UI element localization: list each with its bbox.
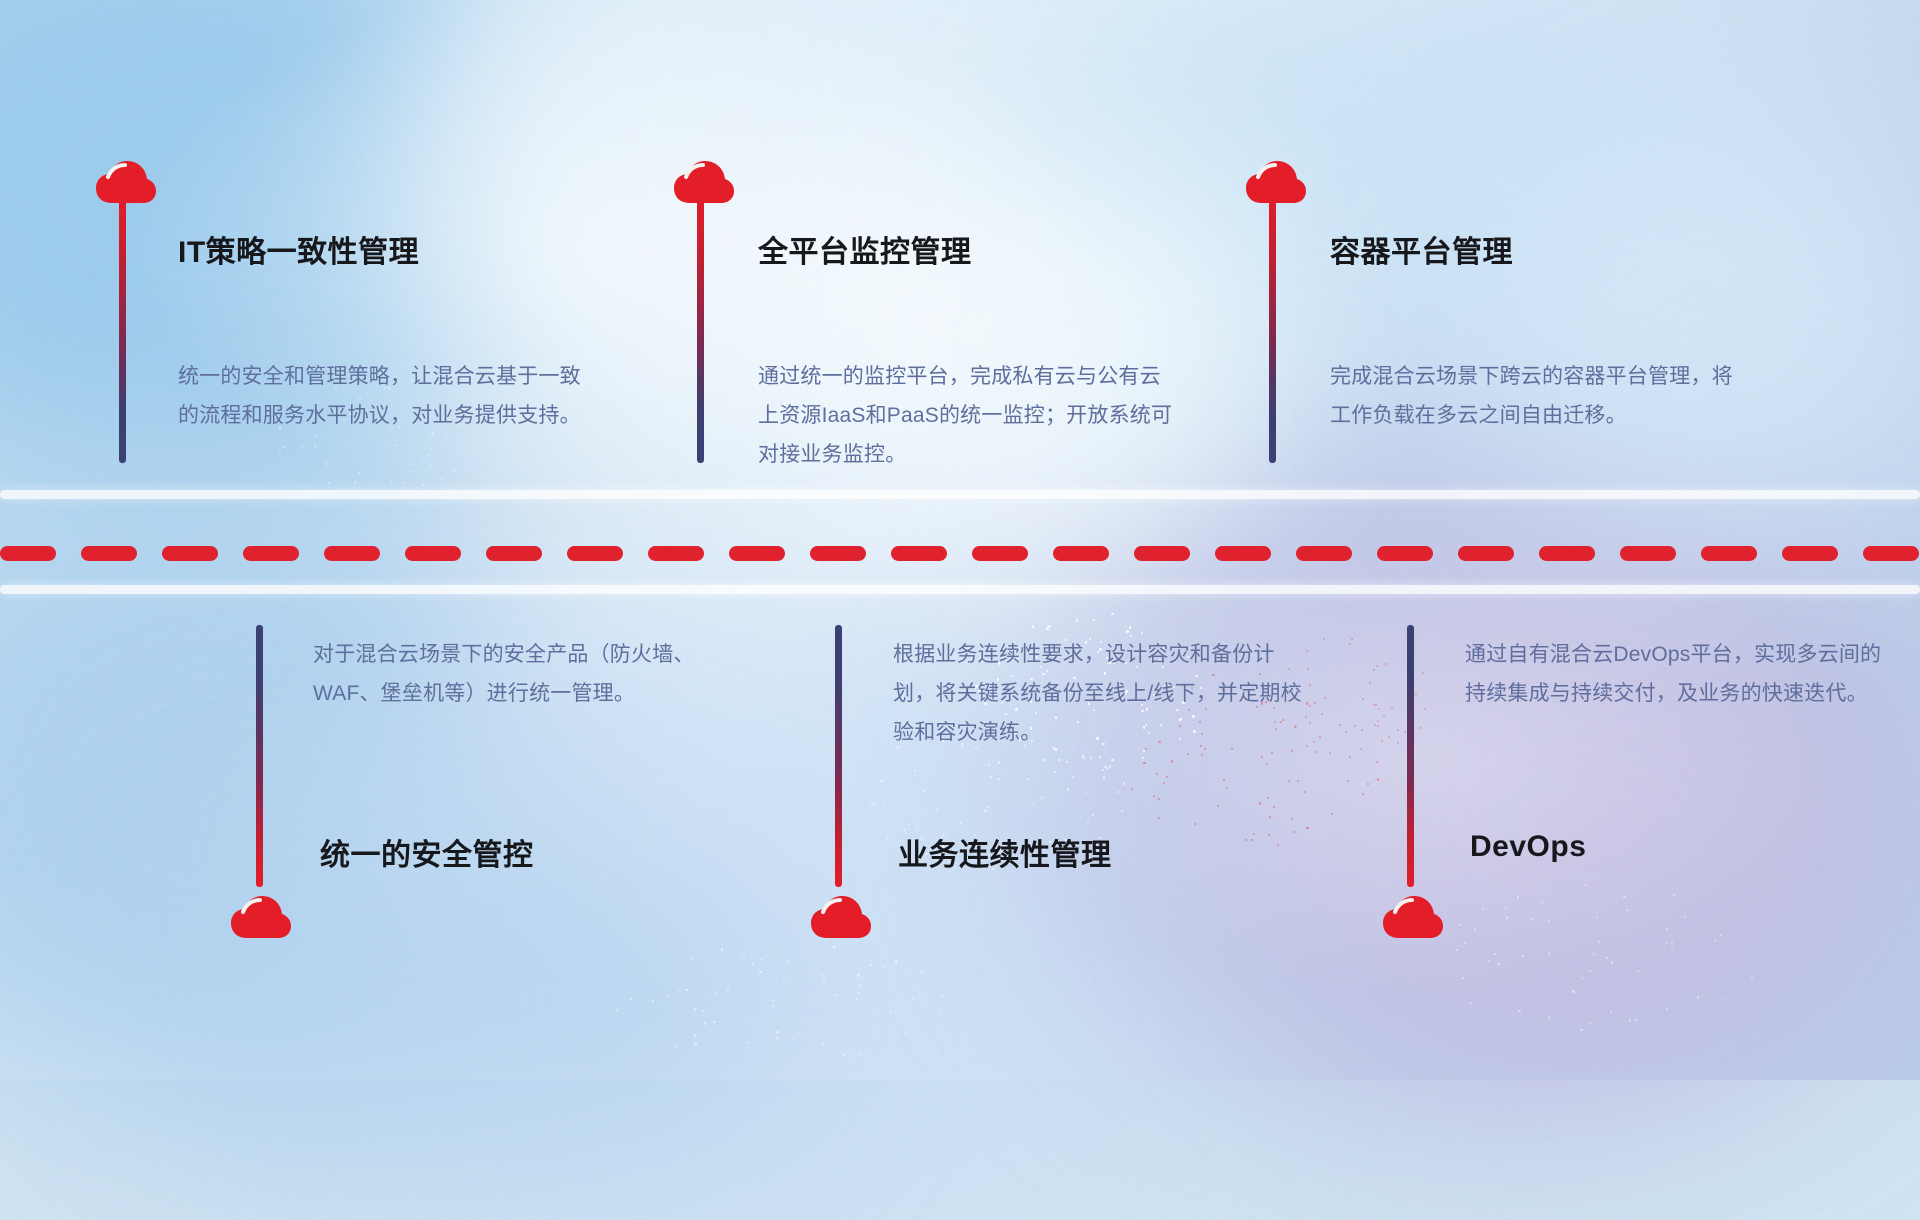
cloud-icon: [230, 895, 292, 939]
speckle-dot: [1572, 990, 1574, 992]
speckle-dot: [1376, 761, 1378, 763]
speckle-dot: [1271, 752, 1273, 754]
speckle-dot: [984, 810, 986, 812]
speckle-dot: [314, 445, 316, 447]
speckle-dot: [1388, 736, 1390, 738]
speckle-dot: [874, 803, 876, 805]
speckle-dot: [1637, 970, 1639, 972]
pin-connector: [1407, 625, 1414, 887]
speckle-dot: [1589, 970, 1591, 972]
speckle-dot: [441, 478, 443, 480]
cloud-icon: [673, 160, 735, 204]
speckle-dot: [1331, 813, 1333, 815]
speckle-dot: [1048, 625, 1050, 627]
dash-segment: [405, 546, 461, 561]
speckle-dot: [1623, 896, 1625, 898]
speckle-dot: [1041, 797, 1043, 799]
speckle-dot: [1245, 839, 1247, 841]
speckle-dot: [772, 1000, 774, 1002]
speckle-dot: [936, 809, 938, 811]
speckle-dot: [1083, 758, 1085, 760]
speckle-dot: [1288, 780, 1290, 782]
speckle-dot: [447, 436, 449, 438]
dash-segment: [486, 546, 542, 561]
speckle-dot: [1027, 778, 1029, 780]
speckle-dot: [1329, 752, 1331, 754]
speckle-dot: [1273, 806, 1275, 808]
speckle-dot: [1259, 802, 1261, 804]
dash-segment: [1863, 546, 1919, 561]
speckle-dot: [704, 1022, 706, 1024]
speckle-dot: [1378, 708, 1380, 710]
speckle-dot: [713, 1021, 715, 1023]
speckle-dot: [1462, 977, 1464, 979]
speckle-dot: [1153, 795, 1155, 797]
speckle-dot: [1634, 1019, 1636, 1021]
dash-segment: [1296, 546, 1352, 561]
speckle-dot: [1067, 788, 1069, 790]
speckle-dot: [1397, 742, 1399, 744]
cloud-icon: [95, 160, 157, 204]
speckle-dot: [1474, 928, 1476, 930]
speckle-dot: [1611, 961, 1613, 963]
dash-segment: [729, 546, 785, 561]
dash-segment: [324, 546, 380, 561]
speckle-dot: [283, 446, 285, 448]
feature-body: 统一的安全和管理策略，让混合云基于一致的流程和服务水平协议，对业务提供支持。: [178, 357, 598, 435]
speckle-dot: [1201, 754, 1203, 756]
speckle-dot: [452, 470, 454, 472]
dash-segment: [891, 546, 947, 561]
speckle-dot: [1251, 839, 1253, 841]
speckle-dot: [748, 1015, 750, 1017]
speckle-dot: [1261, 756, 1263, 758]
speckle-dot: [890, 1011, 892, 1013]
speckle-dot: [1381, 740, 1383, 742]
speckle-dot: [834, 994, 836, 996]
speckle-dot: [920, 971, 922, 973]
dash-segment: [1377, 546, 1433, 561]
speckle-dot: [833, 946, 835, 948]
pin-connector: [697, 198, 704, 463]
speckle-dot: [390, 481, 392, 483]
speckle-dot: [1129, 626, 1131, 628]
cloud-icon: [810, 895, 872, 939]
divider-bar-bottom: [0, 585, 1920, 594]
speckle-dot: [1522, 955, 1524, 957]
speckle-dot: [1684, 916, 1686, 918]
speckle-dot: [1090, 757, 1092, 759]
speckle-dot: [998, 761, 1000, 763]
speckle-dot: [1518, 1010, 1520, 1012]
speckle-dot: [430, 465, 432, 467]
speckle-dot: [776, 1037, 778, 1039]
speckle-dot: [427, 454, 429, 456]
feature-title: DevOps: [1470, 830, 1586, 864]
speckle-dot: [1596, 916, 1598, 918]
speckle-dot: [616, 1009, 618, 1011]
speckle-dot: [1143, 762, 1145, 764]
speckle-dot: [694, 1034, 696, 1036]
speckle-dot: [394, 444, 396, 446]
speckle-dot: [715, 993, 717, 995]
divider-bar-top: [0, 490, 1920, 499]
speckle-dot: [746, 1042, 748, 1044]
speckle-dot: [759, 971, 761, 973]
speckle-dot: [783, 976, 785, 978]
dash-segment: [0, 546, 56, 561]
speckle-dot: [1629, 1019, 1631, 1021]
speckle-dot: [1505, 907, 1507, 909]
speckle-dot: [1166, 776, 1168, 778]
feature-body: 完成混合云场景下跨云的容器平台管理，将工作负载在多云之间自由迁移。: [1330, 357, 1750, 435]
speckle-dot: [1404, 731, 1406, 733]
dash-segment: [1458, 546, 1514, 561]
dash-segment: [1701, 546, 1757, 561]
speckle-dot: [1046, 627, 1048, 629]
speckle-dot: [1367, 783, 1369, 785]
dash-segment: [1782, 546, 1838, 561]
speckle-dot: [886, 837, 888, 839]
speckle-dot: [1497, 963, 1499, 965]
speckle-dot: [1111, 759, 1113, 761]
speckle-dot: [1506, 916, 1508, 918]
speckle-dot: [679, 990, 681, 992]
speckle-dot: [1111, 613, 1113, 615]
pin-connector: [1269, 198, 1276, 463]
speckle-dot: [1141, 632, 1143, 634]
speckle-dot: [941, 995, 943, 997]
speckle-dot: [1349, 756, 1351, 758]
speckle-dot: [1345, 731, 1347, 733]
speckle-dot: [1054, 771, 1056, 773]
speckle-dot: [1085, 791, 1087, 793]
speckle-dot: [1277, 844, 1279, 846]
speckle-dot: [685, 989, 687, 991]
speckle-dot: [358, 472, 360, 474]
speckle-dot: [987, 806, 989, 808]
speckle-dot: [761, 958, 763, 960]
speckle-dot: [652, 1000, 654, 1002]
speckle-dot: [857, 974, 859, 976]
speckle-dot: [423, 458, 425, 460]
dash-segment: [972, 546, 1028, 561]
speckle-dot: [1117, 791, 1119, 793]
dash-segment: [162, 546, 218, 561]
speckle-dot: [1580, 1029, 1582, 1031]
feature-title: 统一的安全管控: [320, 830, 534, 874]
dashed-red-line: [0, 546, 1920, 561]
speckle-dot: [880, 780, 882, 782]
feature-body: 通过自有混合云DevOps平台，实现多云间的持续集成与持续交付，及业务的快速迭代…: [1465, 635, 1885, 713]
speckle-dot: [694, 1043, 696, 1045]
feature-title: 业务连续性管理: [898, 830, 1112, 874]
speckle-dot: [882, 966, 884, 968]
dash-segment: [810, 546, 866, 561]
dash-segment: [648, 546, 704, 561]
speckle-dot: [1109, 765, 1111, 767]
feature-title: 全平台监控管理: [758, 227, 972, 271]
dash-segment: [567, 546, 623, 561]
speckle-dot: [776, 1031, 778, 1033]
speckle-dot: [402, 482, 404, 484]
speckle-dot: [301, 445, 303, 447]
dash-segment: [81, 546, 137, 561]
speckle-dot: [1103, 776, 1105, 778]
feature-title: IT策略一致性管理: [178, 227, 419, 271]
speckle-dot: [1349, 643, 1351, 645]
feature-body: 通过统一的监控平台，完成私有云与公有云上资源IaaS和PaaS的统一监控；开放系…: [758, 357, 1178, 474]
speckle-dot: [1424, 708, 1426, 710]
speckle-dot: [1093, 619, 1095, 621]
speckle-dot: [694, 1008, 696, 1010]
dash-segment: [1053, 546, 1109, 561]
dash-segment: [1620, 546, 1676, 561]
speckle-dot: [912, 997, 914, 999]
speckle-dot: [1610, 1011, 1612, 1013]
speckle-dot: [1087, 821, 1089, 823]
speckle-dot: [1377, 778, 1379, 780]
speckle-dot: [1323, 638, 1325, 640]
speckle-dot: [1123, 782, 1125, 784]
pin-connector: [256, 625, 263, 887]
cloud-icon: [1245, 160, 1307, 204]
dash-segment: [1215, 546, 1271, 561]
speckle-dot: [1104, 766, 1106, 768]
feature-body: 根据业务连续性要求，设计容灾和备份计划，将关键系统备份至线上/线下，并定期校验和…: [893, 635, 1313, 752]
pin-connector: [119, 198, 126, 463]
speckle-dot: [1385, 663, 1387, 665]
feature-title: 容器平台管理: [1330, 227, 1513, 271]
speckle-dot: [895, 959, 897, 961]
speckle-dot: [1126, 630, 1128, 632]
speckle-dot: [787, 960, 789, 962]
speckle-dot: [1031, 804, 1033, 806]
speckle-dot: [409, 470, 411, 472]
speckle-dot: [1269, 816, 1271, 818]
dash-segment: [243, 546, 299, 561]
speckle-dot: [1266, 763, 1268, 765]
dash-segment: [1134, 546, 1190, 561]
dash-segment: [1539, 546, 1595, 561]
cloud-icon: [1382, 895, 1444, 939]
pin-connector: [835, 625, 842, 887]
speckle-dot: [1369, 682, 1371, 684]
speckle-dot: [1397, 729, 1399, 731]
speckle-dot: [1420, 727, 1422, 729]
speckle-dot: [721, 948, 723, 950]
speckle-dot: [1530, 918, 1532, 920]
speckle-dot: [1593, 953, 1595, 955]
feature-body: 对于混合云场景下的安全产品（防火墙、WAF、堡垒机等）进行统一管理。: [313, 635, 733, 713]
speckle-dot: [1720, 934, 1722, 936]
